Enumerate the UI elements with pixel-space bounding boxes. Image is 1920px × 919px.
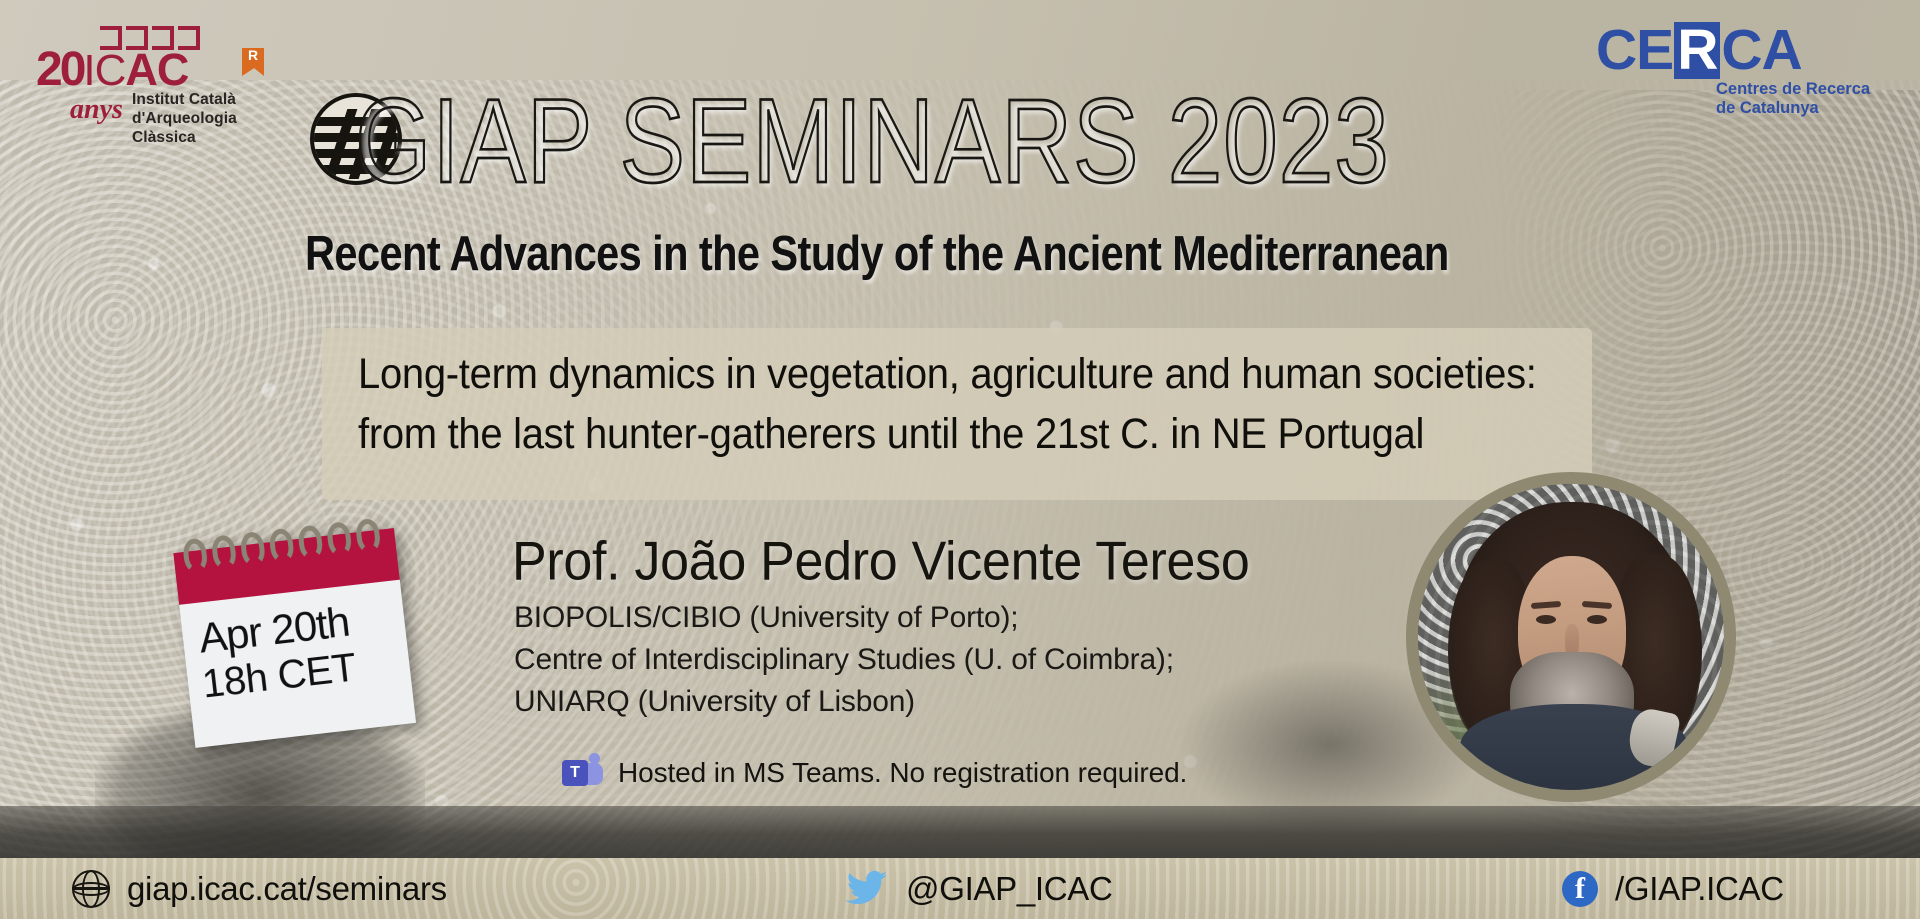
cerca-tagline-line1: Centres de Recerca [1716, 80, 1870, 99]
icac-anys-label: anys [70, 94, 123, 126]
speaker-photo [1418, 484, 1724, 790]
twitter-icon [845, 870, 889, 908]
icac-logo: 20ICAC R anys Institut Català d'Arqueolo… [36, 24, 276, 130]
footer-bar: giap.icac.cat/seminars @GIAP_ICAC /GIAP.… [0, 858, 1920, 919]
footer-twitter[interactable]: @GIAP_ICAC [845, 870, 1113, 908]
icac-institute-line1: Institut Català [132, 90, 276, 109]
footer-website[interactable]: giap.icac.cat/seminars [72, 870, 447, 908]
footer-facebook[interactable]: /GIAP.ICAC [1562, 870, 1784, 908]
event-date-calendar: Apr 20th 18h CET [172, 516, 416, 748]
cerca-letters-ca: CA [1721, 18, 1801, 82]
footer-facebook-label: /GIAP.ICAC [1615, 870, 1784, 908]
speaker-affiliations: BIOPOLIS/CIBIO (University of Porto); Ce… [514, 597, 1174, 723]
icac-letter-c: C [95, 46, 126, 95]
icac-institute-line2: d'Arqueologia Clàssica [132, 109, 276, 147]
talk-title: Long-term dynamics in vegetation, agricu… [358, 344, 1593, 464]
cerca-letters-ce: CE [1596, 18, 1673, 82]
icac-letters-ac: AC [125, 44, 188, 95]
ms-teams-icon-badge: T [562, 760, 588, 786]
facebook-icon [1562, 871, 1598, 907]
globe-icon [72, 870, 110, 908]
page-title: GIAP SEMINARS 2023 [355, 72, 1585, 209]
cerca-tagline-line2: de Catalunya [1716, 99, 1870, 118]
speaker-name: Prof. João Pedro Vicente Tereso [512, 530, 1249, 593]
seminar-poster: 20ICAC R anys Institut Català d'Arqueolo… [0, 0, 1920, 919]
cerca-logo: CERCA Centres de Recerca de Catalunya [1596, 22, 1896, 114]
footer-website-label: giap.icac.cat/seminars [127, 870, 447, 908]
icac-letter-i: I [83, 46, 94, 95]
cerca-letter-r-box: R [1674, 22, 1720, 79]
icac-anniversary-number: 20 [36, 43, 83, 96]
ms-teams-icon: T [562, 752, 606, 790]
page-subtitle: Recent Advances in the Study of the Anci… [305, 225, 1632, 282]
hosting-info: Hosted in MS Teams. No registration requ… [618, 757, 1187, 789]
footer-twitter-label: @GIAP_ICAC [906, 870, 1113, 908]
cerca-tagline: Centres de Recerca de Catalunya [1716, 80, 1870, 118]
cerca-wordmark: CERCA [1596, 22, 1802, 79]
icac-wordmark: 20ICAC [36, 46, 276, 94]
icac-institute-name: Institut Català d'Arqueologia Clàssica [132, 90, 276, 147]
